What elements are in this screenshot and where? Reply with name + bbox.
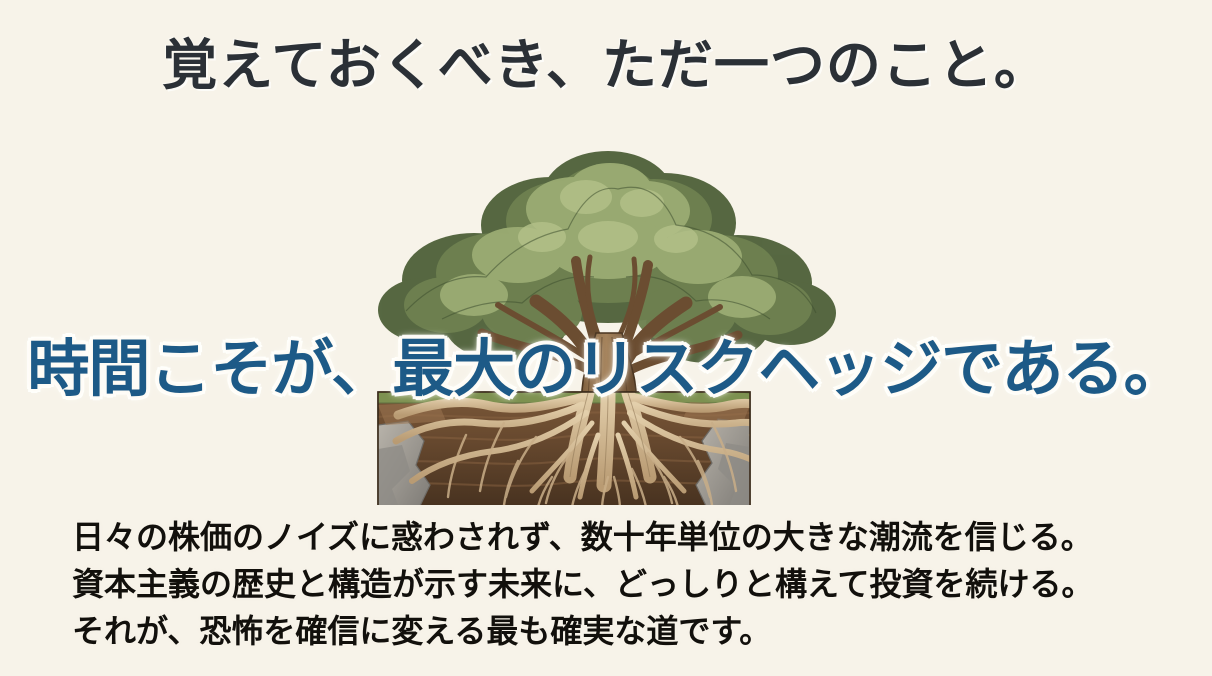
main-headline: 時間こそが、最大のリスクヘッジである。 — [0, 318, 1212, 408]
oak-tree-root-graphic — [346, 105, 866, 505]
body-line-2: 資本主義の歴史と構造が示す未来に、どっしりと構えて投資を続ける。 — [72, 561, 1093, 608]
page-title: 覚えておくべき、ただ一つのこと。 — [0, 20, 1212, 100]
tree-illustration — [0, 105, 1212, 505]
body-line-1: 日々の株価のノイズに惑わされず、数十年単位の大きな潮流を信じる。 — [72, 514, 1093, 561]
rock-right — [696, 419, 750, 505]
slide-canvas: 覚えておくべき、ただ一つのこと。 — [0, 0, 1212, 676]
body-paragraph: 日々の株価のノイズに惑わされず、数十年単位の大きな潮流を信じる。 資本主義の歴史… — [72, 514, 1093, 655]
rock-left — [378, 421, 430, 505]
body-line-3: それが、恐怖を確信に変える最も確実な道です。 — [72, 608, 1093, 655]
root-system — [396, 393, 786, 501]
